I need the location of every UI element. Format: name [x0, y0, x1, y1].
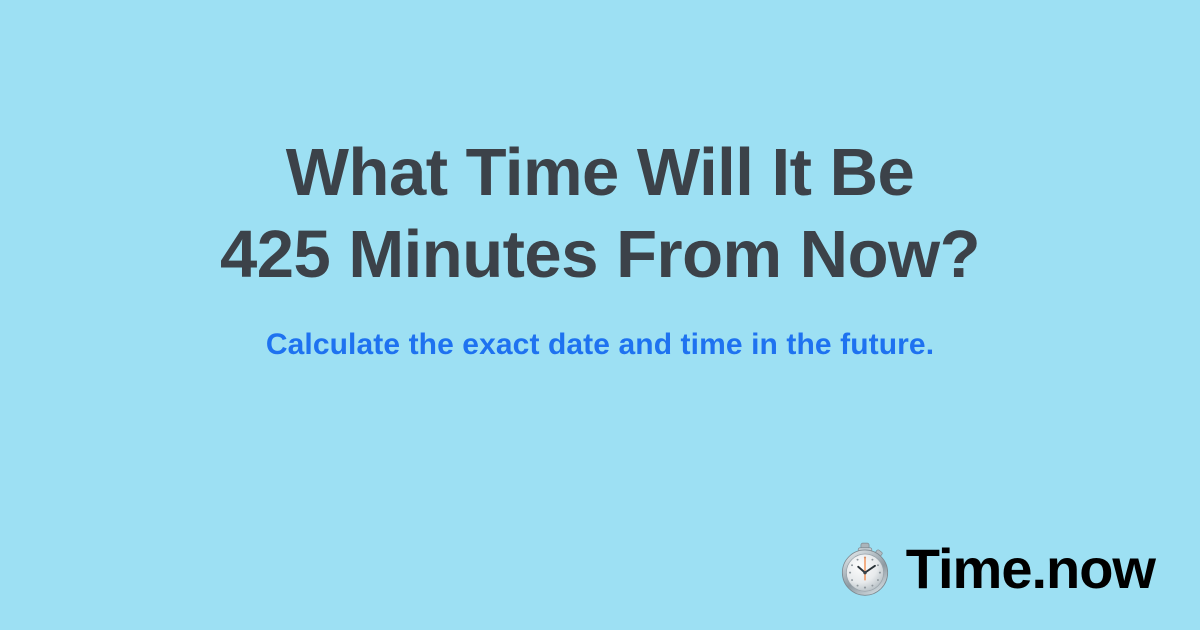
brand-logo[interactable]: Time.now [836, 540, 1155, 598]
headline-line-1: What Time Will It Be [0, 132, 1200, 214]
page-subtitle: Calculate the exact date and time in the… [0, 326, 1200, 364]
brand-name: Time.now [906, 540, 1155, 598]
headline-line-2: 425 Minutes From Now? [0, 214, 1200, 296]
og-card: What Time Will It Be 425 Minutes From No… [0, 0, 1200, 630]
page-title: What Time Will It Be 425 Minutes From No… [0, 132, 1200, 296]
stopwatch-icon [836, 540, 894, 598]
